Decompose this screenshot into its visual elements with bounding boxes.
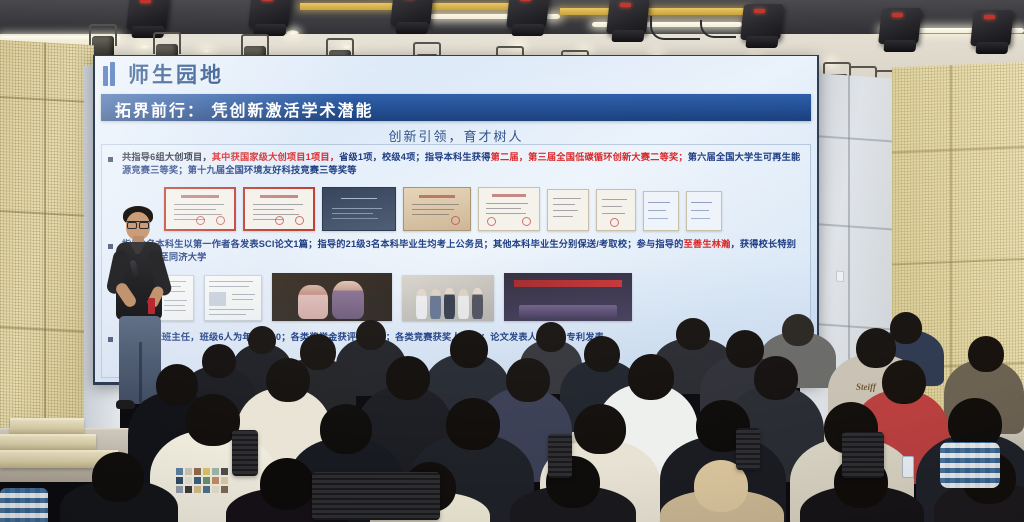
bullet-1-text: 共指导6组大创项目，其中获国家级大创项目1项目，省级1项，校级4项；指导本科生获… bbox=[122, 151, 808, 177]
ceiling-gold-strip bbox=[560, 8, 750, 15]
light-cable bbox=[650, 16, 700, 40]
photo-gallery bbox=[132, 273, 796, 321]
downlight bbox=[200, 48, 213, 54]
slide-banner-title: 拓界前行： 凭创新激活学术潜能 bbox=[115, 97, 373, 121]
shirt-pattern-square bbox=[194, 477, 201, 484]
shirt-pattern-square bbox=[212, 468, 219, 475]
glasses-icon bbox=[127, 221, 149, 227]
bullet-text-segment: 指导3名本科生以第一作者各发表SCI论文1篇；指导的21级3名本科毕业生均考上公… bbox=[122, 239, 618, 249]
stage-light-fixture bbox=[608, 0, 652, 42]
plaid-shirt bbox=[0, 488, 48, 522]
certificate-image bbox=[686, 191, 722, 231]
shirt-pattern-square bbox=[212, 486, 219, 493]
shirt-pattern-square bbox=[221, 477, 228, 484]
shirt-pattern-square bbox=[221, 486, 228, 493]
certificate-gallery bbox=[164, 185, 796, 231]
shirt-pattern-square bbox=[221, 468, 228, 475]
conference-hall-photo bbox=[504, 273, 632, 321]
stage-light-fixture bbox=[972, 10, 1016, 54]
slide-header-title: 师生园地 bbox=[128, 59, 224, 89]
bullet-text-segment: 省级1项，校级4项；指导本科生获得 bbox=[339, 152, 490, 162]
certificate-image bbox=[596, 189, 636, 231]
shirt-pattern-square bbox=[194, 486, 201, 493]
bullet-text-segment: 至善生林瀚 bbox=[684, 239, 731, 249]
shirt-pattern-square bbox=[194, 468, 201, 475]
shirt-pattern-square bbox=[203, 477, 210, 484]
stage-light-fixture bbox=[392, 0, 436, 34]
certificate-image bbox=[547, 189, 589, 231]
auditorium-chair bbox=[232, 430, 258, 476]
stage-light-fixture bbox=[880, 8, 924, 52]
shirt-pattern-square bbox=[185, 477, 192, 484]
shirt-pattern-square bbox=[176, 468, 183, 475]
audience: Steiff bbox=[0, 330, 1024, 522]
light-switch[interactable] bbox=[836, 271, 844, 283]
light-cable bbox=[700, 20, 736, 38]
lecture-hall-scene: 师生园地 拓界前行： 凭创新激活学术潜能 创新引领，育才树人 共指导6组大创项目… bbox=[0, 0, 1024, 522]
shirt-text: Steiff bbox=[856, 382, 876, 392]
bullet-2-text: 指导3名本科生以第一作者各发表SCI论文1篇；指导的21级3名本科毕业生均考上公… bbox=[122, 238, 808, 264]
auditorium-chair bbox=[548, 434, 572, 478]
bullet-text-segment: 其中获国家级大创项目1项目， bbox=[212, 152, 339, 162]
shirt-pattern-square bbox=[185, 486, 192, 493]
certificate-image bbox=[643, 191, 679, 231]
certificate-image bbox=[322, 187, 396, 231]
bullet-marker-icon bbox=[108, 157, 113, 162]
stage-light-fixture bbox=[250, 0, 294, 36]
group-photo bbox=[402, 275, 494, 321]
organization-logo-icon bbox=[103, 62, 120, 86]
certificate-image bbox=[478, 187, 540, 231]
shirt-pattern-square bbox=[203, 468, 210, 475]
award-ceremony-photo bbox=[272, 273, 392, 321]
shirt-pattern-square bbox=[203, 486, 210, 493]
slide-banner: 拓界前行： 凭创新激活学术潜能 bbox=[101, 94, 811, 121]
stage-light-fixture bbox=[508, 0, 552, 36]
shirt-pattern-square bbox=[176, 477, 183, 484]
slide-subtitle: 创新引领，育才树人 bbox=[95, 126, 817, 145]
certificate-image bbox=[243, 187, 315, 231]
presenter-badge bbox=[148, 298, 155, 314]
bullet-text-segment: 共指导6组大创项目， bbox=[122, 152, 212, 162]
certificate-image bbox=[403, 187, 471, 231]
auditorium-chair bbox=[312, 472, 440, 520]
paper-page-image bbox=[204, 275, 262, 321]
mobile-phone[interactable] bbox=[902, 456, 914, 478]
shirt-pattern-square bbox=[185, 468, 192, 475]
bullet-text-segment: 第二届，第三届全国低碳循环创新大赛二等奖； bbox=[491, 152, 688, 162]
shirt-pattern-square bbox=[212, 477, 219, 484]
auditorium-chair bbox=[736, 428, 760, 470]
plaid-shirt bbox=[940, 442, 1000, 488]
stage-light-fixture bbox=[742, 4, 786, 48]
shirt-pattern-square bbox=[176, 486, 183, 493]
auditorium-chair bbox=[842, 432, 884, 478]
bullet-text-segment: 校；参与指导的 bbox=[618, 239, 684, 249]
downlight bbox=[138, 44, 151, 50]
